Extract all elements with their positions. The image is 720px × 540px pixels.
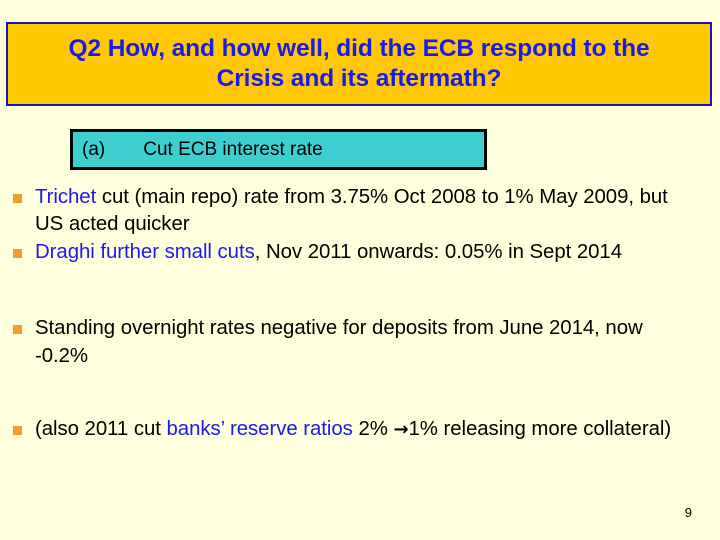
list-item-text: Standing overnight rates negative for de…: [35, 315, 697, 369]
section-label: (a): [73, 139, 105, 161]
bullet-1-segment-2: cut (main repo) rate from 3.75% Oct 2008…: [35, 186, 668, 235]
list-item: Standing overnight rates negative for de…: [9, 315, 709, 369]
bullet-4-segment-2: banks’ reserve ratios: [167, 418, 353, 440]
page-number: 9: [685, 505, 692, 520]
title-banner: Q2 How, and how well, did the ECB respon…: [6, 22, 712, 106]
square-bullet-icon: [13, 325, 22, 334]
section-heading-box: (a) Cut ECB interest rate: [70, 129, 487, 170]
section-title: Cut ECB interest rate: [105, 139, 323, 161]
list-item: Draghi further small cuts, Nov 2011 onwa…: [9, 239, 709, 266]
bullet-4-segment-3: 2%: [353, 418, 394, 440]
bullet-2-segment-1: Draghi further small cuts: [35, 241, 255, 263]
slide-canvas: Q2 How, and how well, did the ECB respon…: [0, 0, 720, 540]
list-item: Trichet cut (main repo) rate from 3.75% …: [9, 184, 709, 238]
list-item-text: Trichet cut (main repo) rate from 3.75% …: [35, 184, 697, 238]
page-title: Q2 How, and how well, did the ECB respon…: [59, 34, 659, 94]
list-item-text: Draghi further small cuts, Nov 2011 onwa…: [35, 239, 697, 266]
spacer: [9, 267, 709, 315]
bullet-4-segment-4: 1% releasing more collateral): [408, 418, 671, 440]
square-bullet-icon: [13, 194, 22, 203]
list-item: (also 2011 cut banks’ reserve ratios 2% …: [9, 416, 709, 443]
bullet-3-segment-1: Standing overnight rates negative for de…: [35, 317, 643, 366]
bullet-1-segment-1: Trichet: [35, 186, 96, 208]
right-arrow-icon: →: [393, 419, 408, 440]
spacer: [9, 371, 709, 416]
square-bullet-icon: [13, 249, 22, 258]
bullet-2-segment-2: , Nov 2011 onwards: 0.05% in Sept 2014: [255, 241, 622, 263]
square-bullet-icon: [13, 426, 22, 435]
bullet-4-segment-1: (also 2011 cut: [35, 418, 167, 440]
list-item-text: (also 2011 cut banks’ reserve ratios 2% …: [35, 416, 697, 443]
bullet-list: Trichet cut (main repo) rate from 3.75% …: [9, 184, 709, 444]
